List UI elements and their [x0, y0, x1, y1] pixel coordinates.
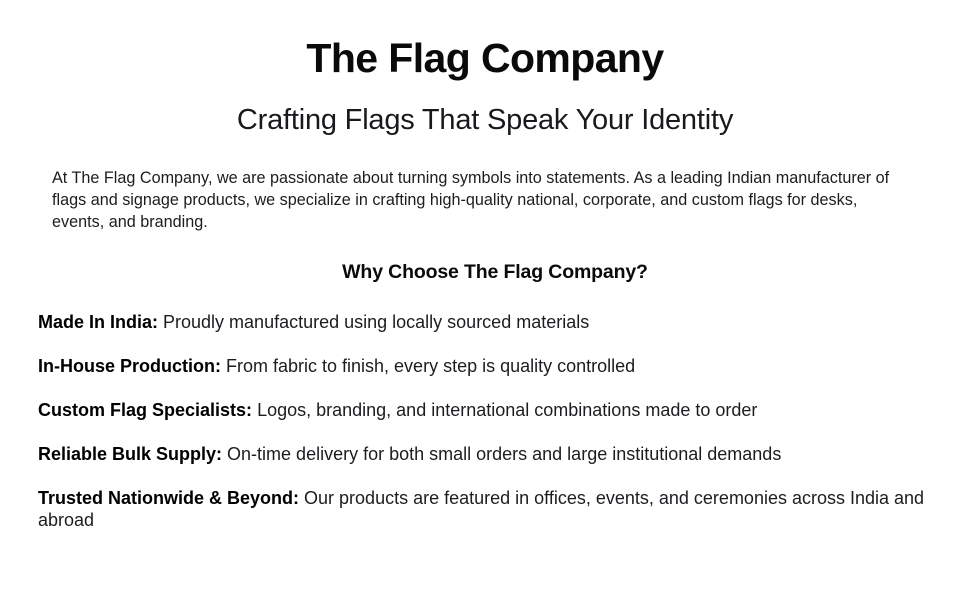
why-choose-heading: Why Choose The Flag Company? [0, 233, 970, 284]
feature-text: Proudly manufactured using locally sourc… [158, 312, 589, 332]
feature-label: Reliable Bulk Supply: [38, 444, 222, 464]
intro-paragraph: At The Flag Company, we are passionate a… [0, 137, 970, 233]
feature-text: On-time delivery for both small orders a… [222, 444, 781, 464]
page-root: The Flag Company Crafting Flags That Spe… [0, 0, 970, 600]
list-item: In-House Production: From fabric to fini… [38, 355, 930, 377]
feature-text: Logos, branding, and international combi… [252, 400, 757, 420]
feature-label: Made In India: [38, 312, 158, 332]
page-title: The Flag Company [0, 0, 970, 82]
list-item: Custom Flag Specialists: Logos, branding… [38, 399, 930, 421]
feature-label: Trusted Nationwide & Beyond: [38, 488, 299, 508]
list-item: Made In India: Proudly manufactured usin… [38, 311, 930, 333]
list-item: Trusted Nationwide & Beyond: Our product… [38, 487, 930, 531]
feature-label: In-House Production: [38, 356, 221, 376]
page-subtitle: Crafting Flags That Speak Your Identity [0, 82, 970, 137]
list-item: Reliable Bulk Supply: On-time delivery f… [38, 443, 930, 465]
features-list: Made In India: Proudly manufactured usin… [0, 285, 970, 531]
feature-label: Custom Flag Specialists: [38, 400, 252, 420]
feature-text: From fabric to finish, every step is qua… [221, 356, 635, 376]
